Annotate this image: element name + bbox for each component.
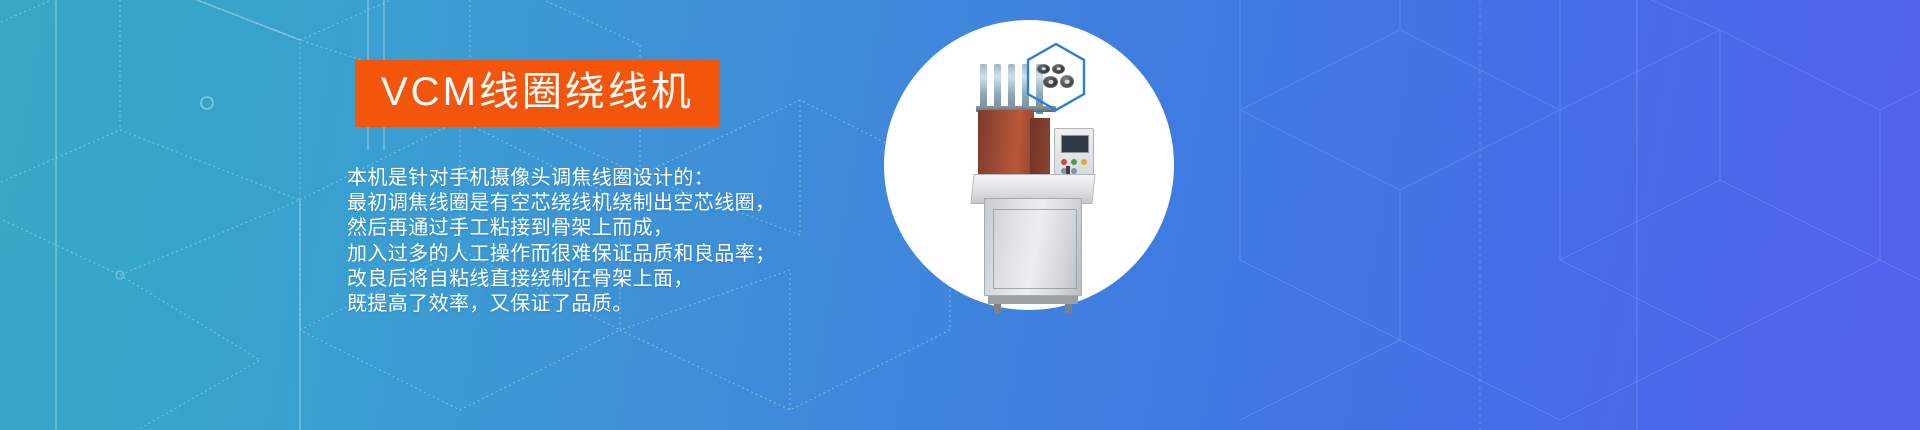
banner-content: VCM线圈绕线机 本机是针对手机摄像头调焦线圈设计的： 最初调焦线圈是有空芯绕线… bbox=[347, 60, 907, 317]
machine-button-red bbox=[1061, 159, 1067, 165]
page-title: VCM线圈绕线机 bbox=[381, 70, 694, 114]
description-line-1: 本机是针对手机摄像头调焦线圈设计的： bbox=[347, 166, 907, 191]
description-line-4: 加入过多的人工操作而很难保证品质和良品率； bbox=[347, 242, 907, 267]
description-block: 本机是针对手机摄像头调焦线圈设计的： 最初调焦线圈是有空芯绕线机绕制出空芯线圈，… bbox=[347, 166, 907, 317]
title-badge: VCM线圈绕线机 bbox=[355, 60, 720, 127]
hexagon-coil-badge bbox=[1025, 42, 1087, 112]
machine-plinth bbox=[988, 296, 1078, 304]
promo-banner: VCM线圈绕线机 本机是针对手机摄像头调焦线圈设计的： 最初调焦线圈是有空芯绕线… bbox=[0, 0, 1920, 430]
machine-foot-left bbox=[994, 304, 1001, 314]
machine-display-screen bbox=[1061, 135, 1089, 153]
coil-item bbox=[1052, 64, 1065, 74]
machine-foot-right bbox=[1065, 304, 1072, 314]
description-line-3: 然后再通过手工粘接到骨架上而成， bbox=[347, 216, 907, 241]
coil-item bbox=[1037, 64, 1050, 74]
description-line-5: 改良后将自粘线直接绕制在骨架上面， bbox=[347, 267, 907, 292]
coil-item bbox=[1043, 76, 1058, 88]
product-showcase bbox=[884, 20, 1184, 320]
machine-cabinet bbox=[984, 198, 1082, 296]
machine-winding-head bbox=[978, 110, 1034, 182]
description-line-6: 既提高了效率，又保证了品质。 bbox=[347, 292, 907, 317]
coil-cluster-icon bbox=[1037, 64, 1075, 90]
coil-item bbox=[1060, 75, 1074, 88]
machine-button-yellow bbox=[1081, 159, 1087, 165]
description-line-2: 最初调焦线圈是有空芯绕线机绕制出空芯线圈， bbox=[347, 191, 907, 216]
machine-button-green bbox=[1071, 159, 1077, 165]
